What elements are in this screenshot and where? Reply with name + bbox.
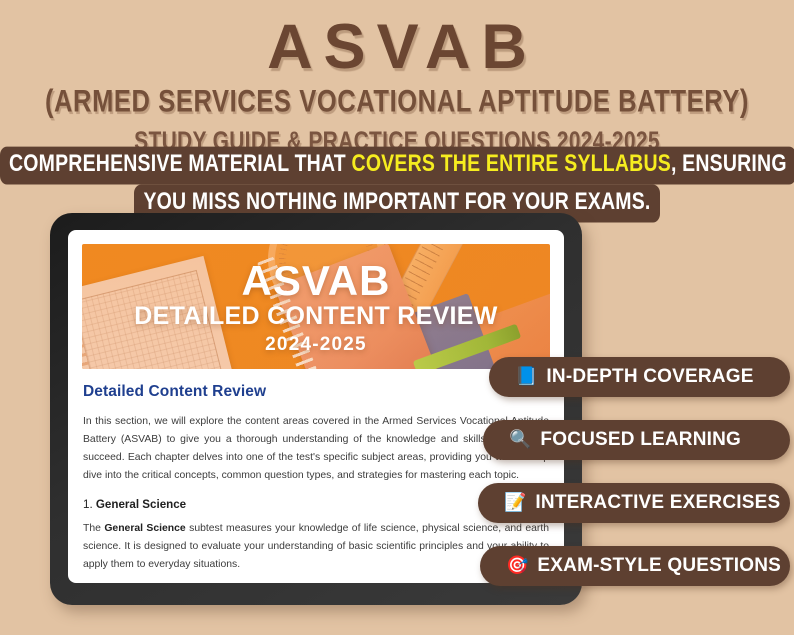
paragraph-bold-term: General Science [104,523,185,534]
banner-text-part2: , ENSURING [671,150,787,177]
feature-pill-exam-style-questions[interactable]: 🎯 EXAM-STYLE QUESTIONS [480,546,790,586]
cover-years: 2024-2025 [265,335,367,354]
cover-title: ASVAB [242,260,391,302]
cover-text-block: ASVAB DETAILED CONTENT REVIEW 2024-2025 [82,244,550,369]
highlight-banner: COMPREHENSIVE MATERIAL THAT COVERS THE E… [0,150,794,218]
poster-header: ASVAB (ARMED SERVICES VOCATIONAL APTITUD… [0,0,794,149]
tablet-screen: ASVAB DETAILED CONTENT REVIEW 2024-2025 … [68,230,564,583]
paragraph-lead: The [83,523,104,534]
section-number: 1. [83,498,93,511]
banner-chip-1: COMPREHENSIVE MATERIAL THAT COVERS THE E… [0,147,794,184]
document-body: Detailed Content Review In this section,… [68,369,564,574]
page-title: ASVAB [0,0,794,80]
feature-pill-label: EXAM-STYLE QUESTIONS [537,555,781,577]
banner-text-part1: COMPREHENSIVE MATERIAL THAT [9,150,352,177]
banner-highlight-text: COVERS THE ENTIRE SYLLABUS [352,150,671,177]
feature-pill-label: FOCUSED LEARNING [540,429,741,451]
document-paragraph-intro: In this section, we will explore the con… [83,413,549,485]
target-dart-icon: 🎯 [506,557,528,575]
banner-line-1: COMPREHENSIVE MATERIAL THAT COVERS THE E… [0,150,794,181]
document-heading: Detailed Content Review [83,383,549,401]
cover-subtitle: DETAILED CONTENT REVIEW [134,304,497,329]
magnifying-glass-icon: 🔍 [509,431,531,449]
memo-pencil-icon: 📝 [504,494,526,512]
feature-pill-label: INTERACTIVE EXERCISES [535,492,780,514]
feature-pill-label: IN-DEPTH COVERAGE [546,366,753,388]
blue-book-icon: 📘 [515,368,537,386]
book-cover-image: ASVAB DETAILED CONTENT REVIEW 2024-2025 [82,244,550,369]
poster-canvas: ASVAB (ARMED SERVICES VOCATIONAL APTITUD… [0,0,794,635]
feature-pill-interactive-exercises[interactable]: 📝 INTERACTIVE EXERCISES [478,483,790,523]
section-title: General Science [96,498,186,511]
feature-pill-in-depth-coverage[interactable]: 📘 IN-DEPTH COVERAGE [489,357,790,397]
feature-pill-focused-learning[interactable]: 🔍 FOCUSED LEARNING [483,420,790,460]
